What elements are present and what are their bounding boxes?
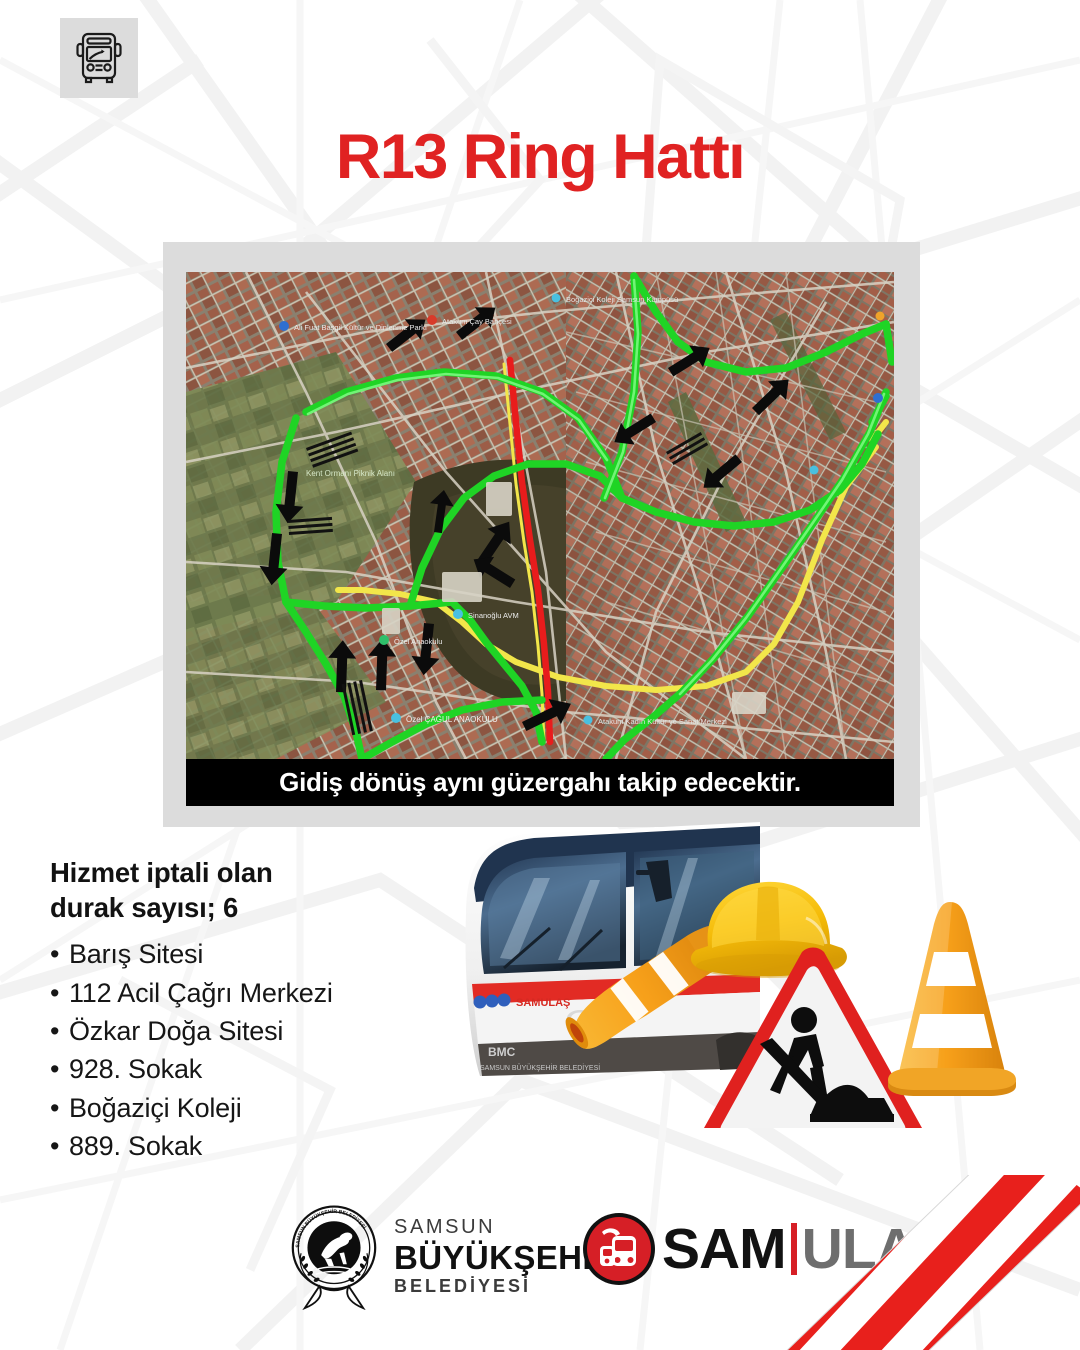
svg-text:Ali Fuat Başgil Kültür ve Dinl: Ali Fuat Başgil Kültür ve Dinlenme Parkı <box>294 323 427 332</box>
traffic-cone-standing-image <box>888 902 1016 1096</box>
bullet-icon: • <box>50 1012 69 1050</box>
equestrian-seal-icon: SAMSUN BÜYÜKŞEHİR BELEDİYESİ <box>288 1202 380 1310</box>
svg-text:Sinanoğlu AVM: Sinanoğlu AVM <box>468 611 519 620</box>
bus-badge <box>60 18 138 98</box>
map-frame: Ali Fuat Başgil Kültür ve Dinlenme Parkı… <box>163 242 920 827</box>
samulas-part-1: SAM <box>662 1221 786 1278</box>
map-caption: Gidiş dönüş aynı güzergahı takip edecekt… <box>186 759 894 806</box>
stop-label: Boğaziçi Koleji <box>69 1093 242 1123</box>
svg-text:Boğaziçi Koleji Samsun Kampüsü: Boğaziçi Koleji Samsun Kampüsü <box>566 295 678 304</box>
bus-front-icon <box>71 29 127 87</box>
svg-text:Atakum Kadın Kültür ve Sanat M: Atakum Kadın Kültür ve Sanat Merkezi <box>598 717 727 726</box>
bus-roadworks-artwork: SAMULAŞ BMC SAMSUN BÜYÜKŞEHİR BELEDİYESİ <box>430 818 1050 1128</box>
samulas-divider <box>791 1223 797 1275</box>
page-title: R13 Ring Hattı <box>0 126 1080 189</box>
stop-label: Barış Sitesi <box>69 939 203 969</box>
bullet-icon: • <box>50 935 69 973</box>
list-item: •928. Sokak <box>50 1050 470 1088</box>
svg-text:Atakum Çay Bahçesi: Atakum Çay Bahçesi <box>442 317 512 326</box>
cancelled-stops-list: •Barış Sitesi •112 Acil Çağrı Merkezi •Ö… <box>50 935 470 1165</box>
svg-text:Özel Anaokulu: Özel Anaokulu <box>394 637 442 646</box>
cancelled-stops-panel: Hizmet iptali olan durak sayısı; 6 •Barı… <box>50 855 470 1165</box>
list-item: •Boğaziçi Koleji <box>50 1089 470 1127</box>
heading-line-2: durak sayısı; 6 <box>50 890 470 925</box>
samulas-part-2: ULAŞ <box>802 1221 953 1278</box>
poster-canvas: R13 Ring Hattı <box>0 0 1080 1350</box>
stop-label: 112 Acil Çağrı Merkezi <box>69 978 333 1008</box>
cancelled-stops-heading: Hizmet iptali olan durak sayısı; 6 <box>50 855 470 925</box>
samsun-municipality-logo: SAMSUN BÜYÜKŞEHİR BELEDİYESİ SAMSUN BÜYÜ… <box>288 1202 616 1310</box>
list-item: •889. Sokak <box>50 1127 470 1165</box>
satellite-map: Ali Fuat Başgil Kültür ve Dinlenme Parkı… <box>186 272 894 759</box>
bus-operator-label: SAMULAŞ <box>516 997 570 1009</box>
samulas-wordmark: SAM ULAŞ <box>662 1221 953 1278</box>
bus-brand-label: BMC <box>488 1045 516 1059</box>
list-item: •Barış Sitesi <box>50 935 470 973</box>
bullet-icon: • <box>50 1127 69 1165</box>
heading-line-1: Hizmet iptali olan <box>50 855 470 890</box>
bullet-icon: • <box>50 1089 69 1127</box>
svg-text:Özel ÇAĞUL ANAOKULU: Özel ÇAĞUL ANAOKULU <box>406 715 498 724</box>
stop-label: Özkar Doğa Sitesi <box>69 1016 283 1046</box>
bus-owner-label: SAMSUN BÜYÜKŞEHİR BELEDİYESİ <box>480 1063 600 1072</box>
list-item: •112 Acil Çağrı Merkezi <box>50 974 470 1012</box>
svg-text:Kent Ormanı Piknik Alanı: Kent Ormanı Piknik Alanı <box>306 469 395 478</box>
footer-logos: SAMSUN BÜYÜKŞEHİR BELEDİYESİ SAMSUN BÜYÜ… <box>0 1198 1080 1318</box>
stop-label: 889. Sokak <box>69 1131 202 1161</box>
route-map-image[interactable]: Ali Fuat Başgil Kültür ve Dinlenme Parkı… <box>186 272 894 759</box>
samulas-logo: SAM ULAŞ <box>582 1212 953 1286</box>
bullet-icon: • <box>50 974 69 1012</box>
bullet-icon: • <box>50 1050 69 1088</box>
stop-label: 928. Sokak <box>69 1054 202 1084</box>
list-item: •Özkar Doğa Sitesi <box>50 1012 470 1050</box>
bus-circle-icon <box>582 1212 656 1286</box>
